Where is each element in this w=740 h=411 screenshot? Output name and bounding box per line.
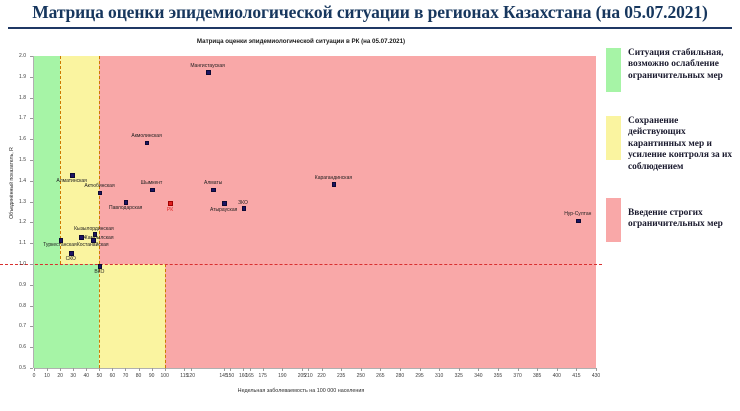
- page-title: Матрица оценки эпидемиологической ситуац…: [0, 2, 740, 23]
- x-axis-tick: [459, 368, 460, 371]
- data-point-label: Алматы: [204, 180, 222, 186]
- y-axis-title: Объединённый показатель, R: [9, 123, 15, 243]
- x-axis-title: Недельная заболеваемость на 100 000 насе…: [0, 388, 602, 394]
- data-point-label: Актюбинская: [84, 183, 114, 189]
- x-axis-tick: [139, 368, 140, 371]
- x-axis-tick: [165, 368, 166, 371]
- x-axis-tick-label: 120: [179, 373, 203, 379]
- x-axis-tick: [263, 368, 264, 371]
- data-point-label: Кызылординская: [74, 226, 114, 232]
- x-axis-tick: [34, 368, 35, 371]
- y-axis-tick: [30, 222, 33, 223]
- x-axis-tick: [361, 368, 362, 371]
- zone-boundary-vertical: [165, 264, 166, 368]
- y-axis-tick-label: 2.0: [6, 53, 26, 59]
- page-body: Матрица оценки эпидемиологической ситуац…: [0, 30, 740, 411]
- y-axis-tick: [30, 347, 33, 348]
- x-axis-tick: [537, 368, 538, 371]
- x-axis-tick: [73, 368, 74, 371]
- title-underline-divider: [8, 27, 732, 29]
- y-axis-tick: [30, 139, 33, 140]
- x-axis-tick: [557, 368, 558, 371]
- x-axis-tick: [341, 368, 342, 371]
- zone-boundary-vertical: [99, 264, 100, 368]
- x-axis-tick: [518, 368, 519, 371]
- data-point-label: Костанайская: [77, 242, 109, 248]
- y-axis-tick: [30, 285, 33, 286]
- chart-panel: Матрица оценки эпидемиологической ситуац…: [0, 30, 602, 411]
- x-axis-tick: [184, 368, 185, 371]
- data-point-label: Жамбылская: [83, 235, 114, 241]
- x-axis-tick: [282, 368, 283, 371]
- x-axis-tick: [191, 368, 192, 371]
- x-axis-tick: [439, 368, 440, 371]
- x-axis-tick: [250, 368, 251, 371]
- y-axis-tick: [30, 56, 33, 57]
- x-axis-tick: [86, 368, 87, 371]
- y-axis-tick: [30, 77, 33, 78]
- data-point-label: Атырауская: [210, 207, 237, 213]
- y-axis-tick: [30, 264, 33, 265]
- x-axis-tick: [596, 368, 597, 371]
- data-point[interactable]: [98, 191, 103, 196]
- x-axis-tick: [125, 368, 126, 371]
- scatter-plot-area: 0.50.60.70.80.91.01.11.21.31.41.51.61.71…: [34, 56, 596, 368]
- y-axis-tick: [30, 202, 33, 203]
- zone-yellow-lower: [99, 264, 164, 368]
- data-point-label: Карагандинская: [315, 175, 352, 181]
- zone-green-lower: [34, 264, 99, 368]
- y-axis-tick: [30, 181, 33, 182]
- data-point-label: СКО: [66, 256, 76, 262]
- data-point[interactable]: [576, 219, 581, 224]
- legend-color-swatch: [606, 116, 621, 160]
- y-axis-tick: [30, 306, 33, 307]
- threshold-line-r1: [0, 264, 602, 265]
- y-axis-tick-label: 1.8: [6, 95, 26, 101]
- y-axis-tick: [30, 326, 33, 327]
- data-point-label: Туркестанская: [43, 242, 77, 248]
- zone-boundary-vertical: [99, 56, 100, 264]
- chart-title: Матрица оценки эпидемиологической ситуац…: [0, 38, 602, 45]
- data-point-label: Акмолинская: [131, 133, 161, 139]
- y-axis-tick-label: 0.5: [6, 365, 26, 371]
- data-point-label: ЗКО: [238, 200, 248, 206]
- data-point-label: Павлодарская: [109, 205, 142, 211]
- legend-color-swatch: [606, 198, 621, 242]
- y-axis-tick: [30, 243, 33, 244]
- legend-color-swatch: [606, 48, 621, 92]
- x-axis-tick: [420, 368, 421, 371]
- data-point[interactable]: [150, 188, 155, 193]
- data-point-label: Алматинская: [56, 178, 87, 184]
- x-axis-tick: [112, 368, 113, 371]
- page-header: Матрица оценки эпидемиологической ситуац…: [0, 0, 740, 30]
- data-point-label: Мангистауская: [190, 63, 225, 69]
- x-axis-tick: [498, 368, 499, 371]
- legend-item-label: Ситуация стабильная, возможно ослабление…: [628, 48, 738, 82]
- data-point-label: Шымкент: [141, 180, 163, 186]
- data-point[interactable]: [145, 141, 150, 146]
- data-point-label: РК: [167, 207, 173, 213]
- x-axis-tick: [60, 368, 61, 371]
- zone-boundary-vertical: [60, 56, 61, 264]
- y-axis-tick-label: 1.0: [6, 261, 26, 267]
- data-point-label: Нур-Султан: [564, 211, 591, 217]
- y-axis-tick-label: 0.8: [6, 303, 26, 309]
- data-point[interactable]: [206, 70, 211, 75]
- y-axis-tick: [30, 160, 33, 161]
- legend-panel: Ситуация стабильная, возможно ослабление…: [602, 30, 740, 411]
- x-axis-tick: [478, 368, 479, 371]
- zone-red-upper: [99, 56, 596, 264]
- x-axis-tick: [99, 368, 100, 371]
- y-axis-tick: [30, 368, 33, 369]
- data-point[interactable]: [332, 182, 337, 187]
- x-axis-tick: [322, 368, 323, 371]
- x-axis-tick: [576, 368, 577, 371]
- y-axis-tick: [30, 98, 33, 99]
- zone-green-upper: [34, 56, 60, 264]
- x-axis-line: [34, 368, 596, 369]
- y-axis-tick-label: 0.9: [6, 282, 26, 288]
- data-point[interactable]: [168, 201, 173, 206]
- zone-red-lower: [165, 264, 596, 368]
- data-point[interactable]: [242, 206, 247, 211]
- x-axis-tick: [302, 368, 303, 371]
- data-point[interactable]: [211, 188, 216, 193]
- x-axis-tick: [243, 368, 244, 371]
- legend-item-label: Введение строгих ограничительных мер: [628, 208, 738, 231]
- y-axis-tick: [30, 118, 33, 119]
- y-axis-tick-label: 0.7: [6, 323, 26, 329]
- x-axis-tick: [152, 368, 153, 371]
- x-axis-tick: [230, 368, 231, 371]
- data-point[interactable]: [222, 201, 227, 206]
- x-axis-tick: [308, 368, 309, 371]
- legend-item-label: Сохранение действующих карантинных мер и…: [628, 116, 738, 173]
- y-axis-tick-label: 0.6: [6, 344, 26, 350]
- x-axis-tick: [400, 368, 401, 371]
- y-axis-tick-label: 1.9: [6, 74, 26, 80]
- x-axis-tick: [47, 368, 48, 371]
- y-axis-tick-label: 1.7: [6, 115, 26, 121]
- x-axis-tick: [224, 368, 225, 371]
- x-axis-tick: [380, 368, 381, 371]
- data-point-label: ВКО: [94, 269, 104, 275]
